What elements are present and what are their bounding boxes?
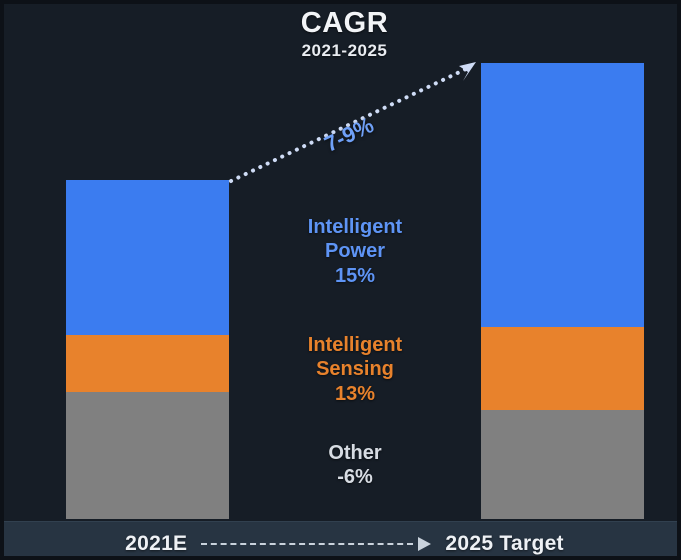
axis-label-2021e: 2021E <box>125 532 187 556</box>
cagr-value-label: 7-9% <box>320 112 378 158</box>
legend-other: Other -6% <box>235 441 475 490</box>
legend-label-line2: Power <box>235 239 475 263</box>
legend-growth-value: 13% <box>235 382 475 406</box>
legend-intelligent-sensing: Intelligent Sensing 13% <box>235 333 475 406</box>
axis-label-2025-target: 2025 Target <box>445 532 563 556</box>
legend-growth-value: -6% <box>235 465 475 489</box>
bar-segment-other[interactable] <box>481 410 644 519</box>
bar-segment-intelligent-sensing[interactable] <box>66 335 229 392</box>
bar-segment-other[interactable] <box>66 392 229 519</box>
legend-intelligent-power: Intelligent Power 15% <box>235 215 475 288</box>
legend-growth-value: 15% <box>235 264 475 288</box>
axis-band: 2021E 2025 Target 01芯闻 <box>4 521 681 560</box>
chart-slide: CAGR 2021-2025 7-9% Intelligent Power 15… <box>0 0 681 560</box>
legend-label-line1: Intelligent <box>235 215 475 239</box>
legend-label-line2: Sensing <box>235 357 475 381</box>
bar-segment-intelligent-power[interactable] <box>66 180 229 335</box>
bar-segment-intelligent-sensing[interactable] <box>481 327 644 410</box>
axis-progress-arrow-icon <box>201 537 431 551</box>
bar-segment-intelligent-power[interactable] <box>481 63 644 327</box>
bar-2025-target[interactable] <box>481 63 644 519</box>
bar-2021e[interactable] <box>66 180 229 519</box>
legend-label-line1: Intelligent <box>235 333 475 357</box>
plot-area: 7-9% Intelligent Power 15% Intelligent S… <box>4 4 681 522</box>
axis-inner: 2021E 2025 Target <box>4 522 681 560</box>
legend-label-line1: Other <box>235 441 475 465</box>
